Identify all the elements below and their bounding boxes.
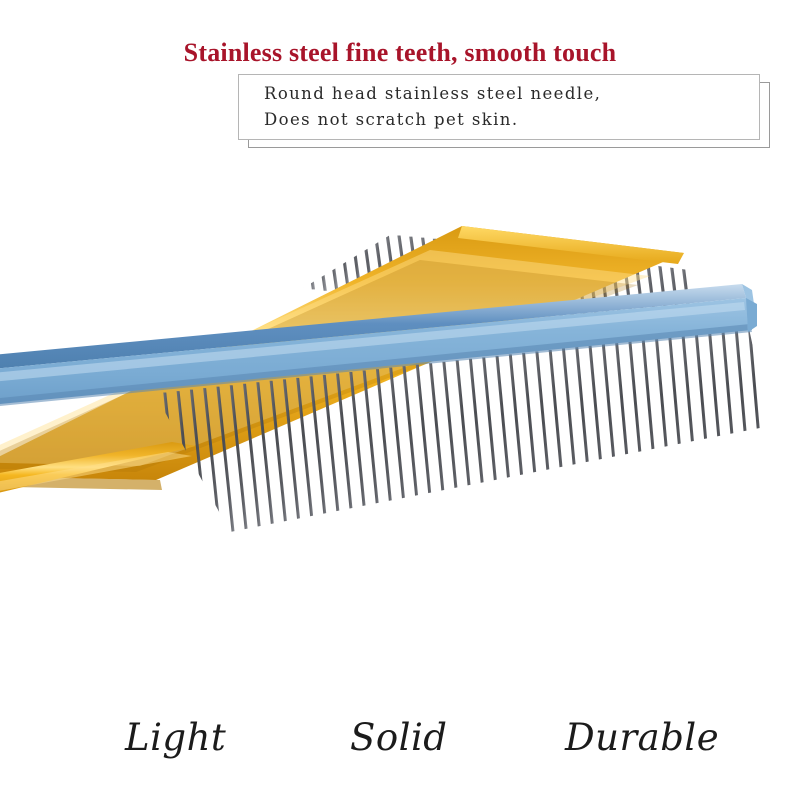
page-headline: Stainless steel fine teeth, smooth touch — [0, 38, 800, 68]
feature-labels: Light Solid Durable — [0, 716, 800, 786]
product-photo — [0, 180, 800, 680]
feature-label-solid: Solid — [350, 716, 447, 759]
feature-label-light: Light — [125, 716, 226, 759]
product-image-page: Stainless steel fine teeth, smooth touch… — [0, 0, 800, 800]
subtitle-line-2: Does not scratch pet skin. — [264, 107, 760, 133]
subtitle-line-1: Round head stainless steel needle, — [264, 81, 760, 107]
subtitle-box: Round head stainless steel needle, Does … — [238, 74, 776, 152]
subtitle-text-group: Round head stainless steel needle, Does … — [238, 74, 760, 140]
feature-label-durable: Durable — [565, 716, 719, 759]
